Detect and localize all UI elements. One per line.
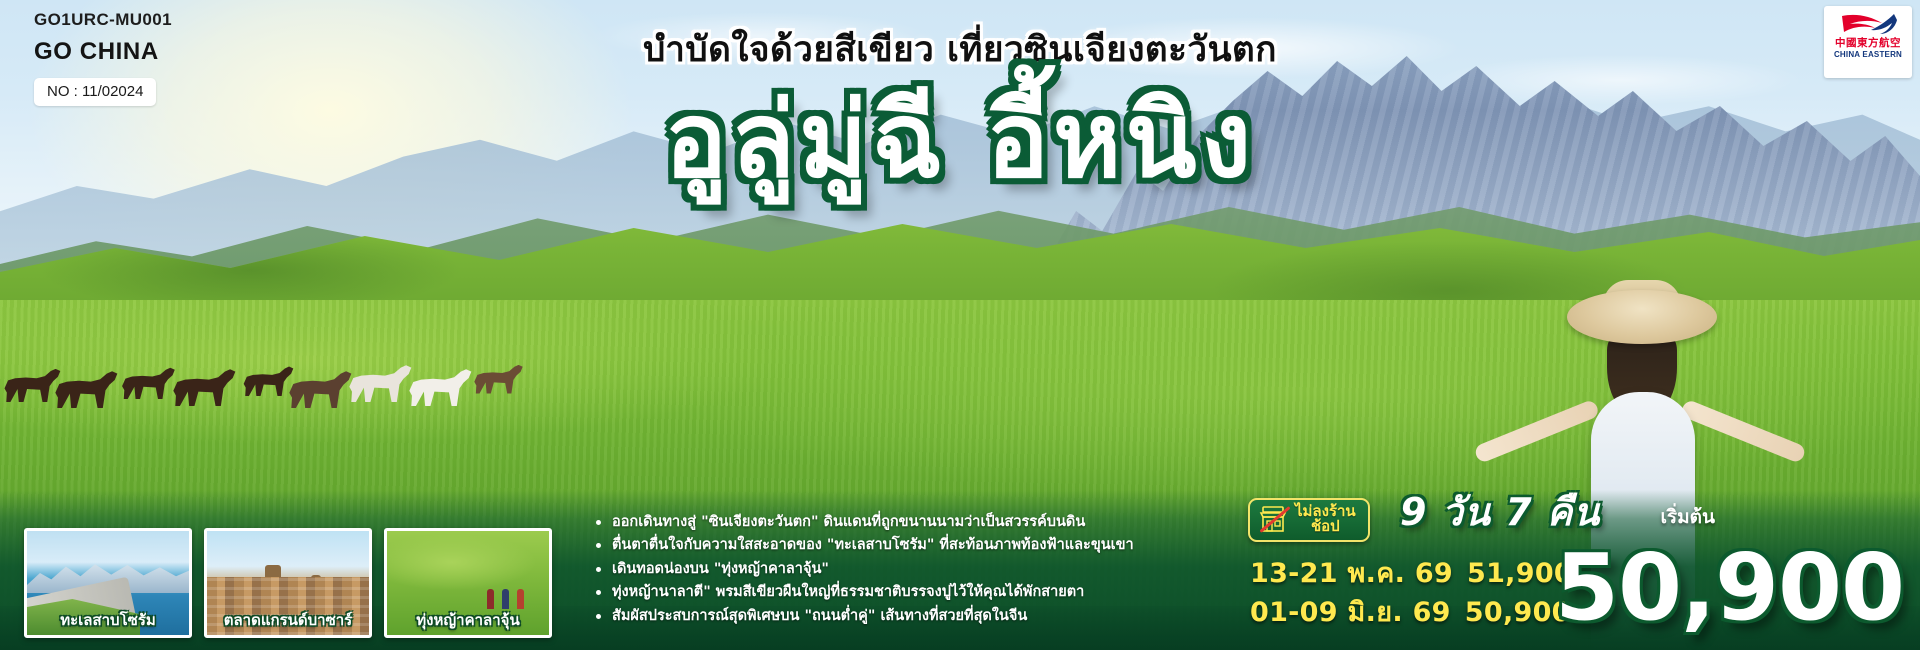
thumbnail-lake[interactable]: ทะเลสาบโซรัม bbox=[24, 528, 192, 638]
departure-row: 01-09 มิ.ย. 69 50,900 bbox=[1250, 594, 1573, 632]
thumbnail-grassland[interactable]: ทุ่งหญ้าคาลาจุ้น bbox=[384, 528, 552, 638]
thumbnail-caption: ตลาดแกรนด์บาซาร์ bbox=[207, 608, 369, 632]
highlights-list: ออกเดินทางสู่ "ซินเจียงตะวันตก" ดินแดนที… bbox=[592, 511, 1282, 628]
no-shopping-store-icon bbox=[1258, 504, 1288, 534]
departure-schedule: 13-21 พ.ค. 69 51,900 01-09 มิ.ย. 69 50,9… bbox=[1250, 555, 1573, 632]
thumbnail-caption: ทุ่งหญ้าคาลาจุ้น bbox=[387, 608, 549, 632]
departure-row: 13-21 พ.ค. 69 51,900 bbox=[1250, 555, 1573, 593]
departure-dates: 01-09 มิ.ย. 69 bbox=[1250, 594, 1451, 632]
travel-brochure-poster: GO1URC-MU001 GO CHINA NO : 11/02024 中國東方… bbox=[0, 0, 1920, 650]
list-item: เดินทอดน่องบน "ทุ่งหญ้าคาลาจุ้น" bbox=[592, 558, 1282, 581]
departure-dates: 13-21 พ.ค. 69 bbox=[1250, 555, 1453, 593]
thumbnail-bazaar[interactable]: ตลาดแกรนด์บาซาร์ bbox=[204, 528, 372, 638]
price-prefix: เริ่มต้น bbox=[1660, 502, 1715, 532]
thumbnail-caption: ทะเลสาบโซรัม bbox=[27, 608, 189, 632]
sun-hat-icon bbox=[1567, 290, 1717, 344]
list-item: สัมผัสประสบการณ์สุดพิเศษบน "ถนนต่ำคู่" เ… bbox=[592, 605, 1282, 628]
right-arm bbox=[1680, 399, 1807, 464]
destination-thumbnails: ทะเลสาบโซรัม ตลาดแกรนด์บาซาร์ ทุ่งหญ้าคา… bbox=[24, 528, 552, 638]
left-arm bbox=[1473, 399, 1600, 464]
no-shopping-line2: ช้อป bbox=[1311, 517, 1340, 535]
duration-badge: 9 วัน 7 คืน bbox=[1400, 481, 1600, 542]
page-title: อูลู่มู่ฉี อี้หนิง bbox=[0, 82, 1920, 198]
horse-herd bbox=[0, 318, 560, 408]
no-shopping-label: ไม่ลงร้าน ช้อป bbox=[1295, 504, 1356, 536]
list-item: ออกเดินทางสู่ "ซินเจียงตะวันตก" ดินแดนที… bbox=[592, 511, 1282, 534]
tagline: บำบัดใจด้วยสีเขียว เที่ยวซินเจียงตะวันตก bbox=[0, 22, 1920, 77]
no-shopping-badge: ไม่ลงร้าน ช้อป bbox=[1248, 498, 1370, 543]
list-item: ตื่นตาตื่นใจกับความใสสะอาดของ "ทะเลสาบโซ… bbox=[592, 534, 1282, 557]
list-item: ทุ่งหญ้านาลาตี" พรมสีเขียวผืนใหญ่ที่ธรรม… bbox=[592, 581, 1282, 604]
price-amount: 50,900 bbox=[1555, 542, 1904, 634]
